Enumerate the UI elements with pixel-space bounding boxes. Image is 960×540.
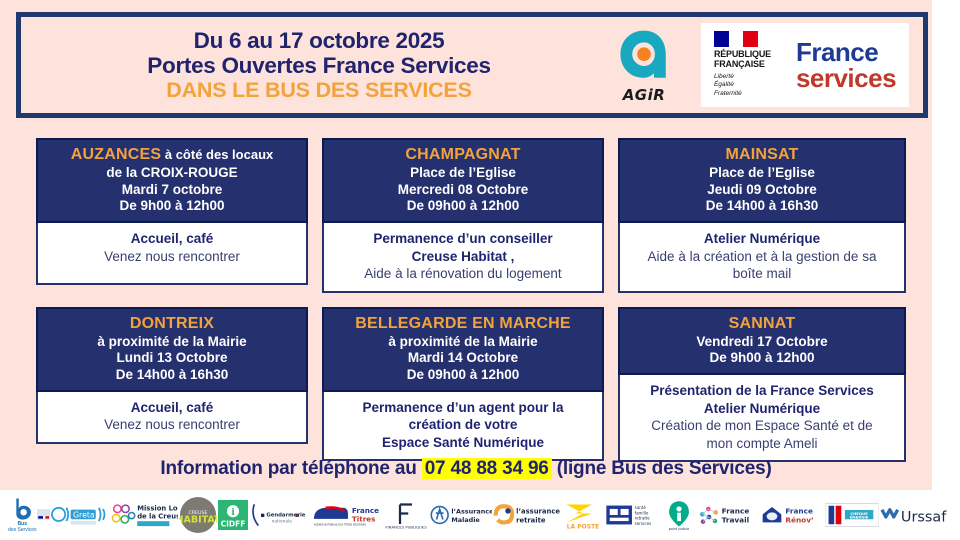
svg-text:i: i: [232, 507, 236, 518]
event-town: SANNAT: [626, 314, 898, 334]
event-card-sannat: SANNAT Vendredi 17 Octobre De 9h00 à 12h…: [618, 307, 906, 462]
event-town: MAINSAT: [626, 145, 898, 165]
agir-wordmark: AGiR: [623, 86, 666, 104]
partner-logo-strip: Busdes Services Greta: [0, 490, 960, 540]
event-card-header: AUZANCES à côté des locaux de la CROIX-R…: [36, 138, 308, 223]
event-service-title: Atelier Numérique: [626, 230, 898, 248]
svg-text:Mission Locale: Mission Locale: [138, 505, 179, 513]
event-card-auzances: AUZANCES à côté des locaux de la CROIX-R…: [36, 138, 308, 293]
event-card-body: Accueil, café Venez nous rencontrer: [36, 223, 308, 285]
header-event-title: Portes Ouvertes France Services: [35, 53, 603, 78]
event-title-line: AUZANCES à côté des locaux: [44, 145, 300, 165]
event-town: BELLEGARDE EN MARCHE: [330, 314, 596, 334]
svg-text:point justice: point justice: [669, 527, 690, 531]
svg-text:CIDFF: CIDFF: [221, 519, 246, 528]
event-service-desc-2: mon compte Ameli: [626, 435, 898, 453]
event-card-body: Accueil, café Venez nous rencontrer: [36, 392, 308, 444]
svg-text:de la Creuse: de la Creuse: [138, 513, 179, 521]
svg-text:retraite: retraite: [516, 516, 546, 524]
header-banner: Du 6 au 17 octobre 2025 Portes Ouvertes …: [16, 12, 928, 118]
point-justice-mark-icon: point justice: [664, 499, 694, 531]
event-place: de la CROIX-ROUGE: [44, 165, 300, 182]
gendarmerie-mark-icon: Gendarmerie nationale: [249, 501, 309, 529]
event-card-header: BELLEGARDE EN MARCHE à proximité de la M…: [322, 307, 604, 392]
event-card-mainsat: MAINSAT Place de l’Eglise Jeudi 09 Octob…: [618, 138, 906, 293]
event-service-desc: Création de mon Espace Santé et de: [626, 417, 898, 435]
france-renov-logo: France Rénov’: [760, 494, 824, 536]
cidff-mark-icon: i CIDFF: [218, 500, 248, 530]
event-date: Vendredi 17 Octobre: [626, 334, 898, 351]
cheque-energie-logo: CHÈQUE ÉNERGIE: [825, 494, 879, 536]
mission-locale-mark-icon: Mission Locale de la Creuse: [110, 502, 178, 528]
svg-text:services: services: [635, 521, 652, 526]
event-service-title-2: Atelier Numérique: [626, 400, 898, 418]
assurance-maladie-mark-icon: l’Assurance Maladie: [430, 502, 492, 528]
event-card-header: MAINSAT Place de l’Eglise Jeudi 09 Octob…: [618, 138, 906, 223]
event-service-title: Présentation de la France Services: [626, 382, 898, 400]
cheque-energie-mark-icon: CHÈQUE ÉNERGIE: [825, 501, 879, 529]
logo-label: Busdes Services: [8, 522, 37, 534]
msap-mark-icon: santé famille retraite services: [605, 501, 663, 529]
event-service-desc: Venez nous rencontrer: [44, 416, 300, 434]
svg-text:Maladie: Maladie: [452, 516, 481, 524]
event-town: CHAMPAGNAT: [330, 145, 596, 165]
france-titres-logo: France Titres AGENCE NATIONALE DES TITRE…: [310, 494, 382, 536]
finances-publiques-mark-icon: FINANCES PUBLIQUES: [383, 500, 429, 530]
assurance-maladie-logo: l’Assurance Maladie: [430, 494, 492, 536]
svg-text:Greta: Greta: [73, 510, 95, 519]
event-card-body: Atelier Numérique Aide à la création et …: [618, 223, 906, 293]
assurance-retraite-logo: l’assurance retraite: [493, 494, 561, 536]
bus-b-icon: [9, 496, 35, 522]
republique-francaise-label: RÉPUBLIQUEFRANÇAISE: [714, 49, 786, 70]
assurance-retraite-mark-icon: l’assurance retraite: [493, 502, 561, 528]
agir-a-icon: [615, 27, 673, 85]
event-service-title: Accueil, café: [44, 399, 300, 417]
french-flag-icon: [714, 31, 758, 47]
france-services-logo: RÉPUBLIQUEFRANÇAISE Liberté Égalité Frat…: [701, 23, 909, 107]
svg-text:Titres: Titres: [352, 515, 376, 524]
event-service-title-2: Creuse Habitat ,: [330, 248, 596, 266]
svg-text:Urssaf: Urssaf: [901, 510, 947, 526]
event-service-title-3: Espace Santé Numérique: [330, 434, 596, 452]
event-card-header: CHAMPAGNAT Place de l’Eglise Mercredi 08…: [322, 138, 604, 223]
event-place: Place de l’Eglise: [626, 165, 898, 182]
phone-number[interactable]: 07 48 88 34 96: [422, 458, 552, 479]
svg-text:France: France: [352, 506, 379, 515]
france-travail-logo: France Travail: [695, 494, 759, 536]
france-services-wordmark: France services: [796, 39, 896, 91]
point-justice-logo: point justice: [664, 494, 694, 536]
event-town: AUZANCES: [71, 146, 162, 163]
event-date: Mardi 7 octobre: [44, 182, 300, 199]
phone-info-suffix: (ligne Bus des Services): [552, 458, 772, 479]
svg-text:nationale: nationale: [272, 518, 293, 524]
svg-text:l’Assurance: l’Assurance: [452, 508, 493, 516]
greta-logo: Greta: [37, 494, 109, 536]
event-service-title: Permanence d’un conseiller: [330, 230, 596, 248]
sante-famille-retraite-services-logo: santé famille retraite services: [605, 494, 663, 536]
event-date: Mardi 14 Octobre: [330, 350, 596, 367]
event-card-champagnat: CHAMPAGNAT Place de l’Eglise Mercredi 08…: [322, 138, 604, 293]
gendarmerie-nationale-logo: Gendarmerie nationale: [249, 494, 309, 536]
marianne-block: RÉPUBLIQUEFRANÇAISE Liberté Égalité Frat…: [714, 31, 786, 99]
event-card-body: Présentation de la France Services Ateli…: [618, 375, 906, 462]
header-date-range: Du 6 au 17 octobre 2025: [35, 28, 603, 53]
fs-services-word: services: [796, 65, 896, 91]
event-place: à proximité de la Mairie: [330, 334, 596, 351]
agir-logo: AGiR: [603, 27, 685, 104]
event-service-desc: Venez nous rencontrer: [44, 248, 300, 266]
event-time: De 14h00 à 16h30: [44, 367, 300, 384]
header-text-block: Du 6 au 17 octobre 2025 Portes Ouvertes …: [21, 28, 603, 102]
event-time: De 9h00 à 12h00: [626, 350, 898, 367]
event-time: De 14h00 à 16h30: [626, 198, 898, 215]
svg-text:FINANCES PUBLIQUES: FINANCES PUBLIQUES: [386, 526, 428, 530]
event-date: Jeudi 09 Octobre: [626, 182, 898, 199]
event-time: De 09h00 à 12h00: [330, 198, 596, 215]
events-grid: AUZANCES à côté des locaux de la CROIX-R…: [36, 138, 924, 462]
creuse-habitat-mark-icon: CREUSE HABITAT: [179, 496, 217, 534]
svg-text:retraite: retraite: [635, 516, 650, 521]
right-white-margin: [932, 0, 960, 490]
phone-info-line: Information par téléphone au 07 48 88 34…: [0, 458, 932, 480]
finances-publiques-logo: FINANCES PUBLIQUES: [383, 494, 429, 536]
mission-locale-creuse-logo: Mission Locale de la Creuse: [110, 494, 178, 536]
svg-text:LA POSTE: LA POSTE: [567, 524, 600, 531]
bus-des-services-logo: Busdes Services: [8, 494, 37, 536]
motto-fraternite: Fraternité: [714, 90, 742, 97]
event-date: Mercredi 08 Octobre: [330, 182, 596, 199]
event-card-body: Permanence d’un agent pour la création d…: [322, 392, 604, 462]
svg-text:France: France: [722, 507, 750, 516]
event-card-header: DONTREIX à proximité de la Mairie Lundi …: [36, 307, 308, 392]
svg-text:Travail: Travail: [722, 515, 750, 524]
event-card-dontreix: DONTREIX à proximité de la Mairie Lundi …: [36, 307, 308, 462]
urssaf-mark-icon: Urssaf: [880, 503, 952, 527]
event-town: DONTREIX: [44, 314, 300, 334]
devise-motto: Liberté Égalité Fraternité: [714, 73, 786, 99]
fs-france-word: France: [796, 39, 896, 65]
event-time: De 09h00 à 12h00: [330, 367, 596, 384]
cidff-logo: i CIDFF: [218, 494, 248, 536]
event-date: Lundi 13 Octobre: [44, 350, 300, 367]
event-service-title: Permanence d’un agent pour la: [330, 399, 596, 417]
svg-text:l’assurance: l’assurance: [516, 508, 560, 516]
event-time: De 9h00 à 12h00: [44, 198, 300, 215]
svg-text:France: France: [785, 507, 813, 516]
svg-text:famille: famille: [635, 510, 649, 515]
svg-text:santé: santé: [635, 505, 647, 510]
greta-mark-icon: Greta: [37, 504, 109, 526]
header-subtitle: DANS LE BUS DES SERVICES: [35, 78, 603, 102]
event-card-body: Permanence d’un conseiller Creuse Habita…: [322, 223, 604, 293]
la-poste-logo: LA POSTE: [562, 494, 604, 536]
event-service-desc-2: boîte mail: [626, 265, 898, 283]
event-card-header: SANNAT Vendredi 17 Octobre De 9h00 à 12h…: [618, 307, 906, 375]
event-service-desc: Aide à la rénovation du logement: [330, 265, 596, 283]
creuse-habitat-logo: CREUSE HABITAT: [179, 494, 217, 536]
event-service-title: Accueil, café: [44, 230, 300, 248]
motto-egalite: Égalité: [714, 81, 734, 88]
france-travail-mark-icon: France Travail: [695, 501, 759, 529]
svg-text:Rénov’: Rénov’: [785, 515, 814, 524]
phone-info-prefix: Information par téléphone au: [160, 458, 421, 479]
poster-canvas: Du 6 au 17 octobre 2025 Portes Ouvertes …: [0, 0, 960, 540]
motto-liberte: Liberté: [714, 73, 734, 80]
event-place-inline: à côté des locaux: [161, 147, 273, 162]
la-poste-mark-icon: LA POSTE: [562, 500, 604, 530]
svg-text:ÉNERGIE: ÉNERGIE: [850, 515, 869, 520]
header-logos: AGiR RÉPUBLIQUEFRANÇAISE Liberté Égalité…: [603, 23, 923, 107]
svg-text:HABITAT: HABITAT: [179, 515, 217, 526]
svg-text:AGENCE NATIONALE DES TITRES SÉ: AGENCE NATIONALE DES TITRES SÉCURISÉS: [314, 523, 367, 526]
event-service-title-2: création de votre: [330, 416, 596, 434]
event-place: Place de l’Eglise: [330, 165, 596, 182]
event-card-bellegarde-en-marche: BELLEGARDE EN MARCHE à proximité de la M…: [322, 307, 604, 462]
france-titres-mark-icon: France Titres AGENCE NATIONALE DES TITRE…: [310, 501, 382, 529]
svg-text:Gendarmerie: Gendarmerie: [267, 512, 306, 518]
event-service-desc: Aide à la création et à la gestion de sa: [626, 248, 898, 266]
urssaf-logo: Urssaf: [880, 494, 952, 536]
france-renov-mark-icon: France Rénov’: [760, 501, 824, 529]
event-place: à proximité de la Mairie: [44, 334, 300, 351]
